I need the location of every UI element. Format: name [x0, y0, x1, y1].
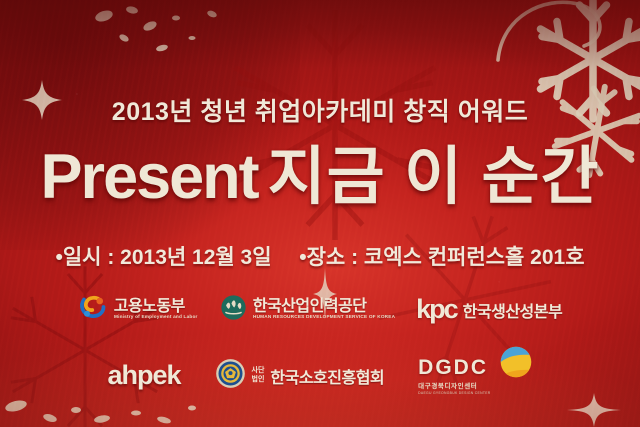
association-prefix-line1: 사단 — [252, 367, 265, 374]
circular-seal-emblem-icon — [215, 358, 246, 394]
sponsor-logo-korea-productivity-center: kpc 한국생산성본부 — [416, 296, 562, 323]
venue-value: 코엑스 컨퍼런스홀 201호 — [364, 246, 585, 269]
sponsor-name-en: DAEGU GYEONGBUK DESIGN CENTER — [418, 391, 490, 395]
sponsor-name-ko: 대구경북디자인센터 — [418, 380, 490, 390]
sponsor-logo-row-primary: 고용노동부 Ministry of Employment and Labor 한… — [0, 292, 640, 327]
sponsor-logo-korea-soho-promotion-association: 사단 법인 한국소호진흥협회 — [215, 358, 385, 394]
sponsor-logo-ahpek: ahpek — [107, 362, 180, 389]
sponsor-logo-daegu-gyeongbuk-design-center: DGDC 대구경북디자인센터 DAEGU GYEONGBUK DESIGN CE… — [418, 345, 532, 406]
date-bullet: • — [55, 246, 62, 269]
sponsor-name-en: Ministry of Employment and Labor — [114, 315, 198, 320]
banner-title: Present지금 이 순간 — [0, 146, 640, 209]
banner-title-korean: 지금 이 순간 — [268, 142, 600, 212]
sponsor-name-en: HUMAN RESOURCES DEVELOPMENT SERVICE OF K… — [253, 315, 395, 320]
date-separator: : — [107, 246, 114, 269]
venue-bullet: • — [299, 246, 306, 269]
dgdc-wordmark: DGDC — [418, 357, 490, 378]
sponsor-name-ko: 한국산업인력공단 — [253, 299, 392, 316]
green-circle-emblem-icon — [220, 294, 247, 326]
event-banner-photo: 2013년 청년 취업아카데미 창직 어워드 Present지금 이 순간 •일… — [0, 0, 640, 427]
sponsor-label-group: 고용노동부 Ministry of Employment and Labor — [114, 299, 196, 321]
swirl-emblem-icon — [78, 292, 108, 327]
sponsor-label-group: 한국산업인력공단 HUMAN RESOURCES DEVELOPMENT SER… — [253, 299, 392, 321]
date-value: 2013년 12월 3일 — [120, 246, 271, 269]
banner-info-line: •일시 : 2013년 12월 3일 •장소 : 코엑스 컨퍼런스홀 201호 — [0, 241, 640, 271]
kpc-wordmark: kpc — [416, 296, 457, 323]
banner-title-english: Present — [41, 142, 258, 212]
sponsor-name-ko: 한국소호진흥협회 — [270, 364, 384, 388]
venue-label: 장소 — [307, 246, 346, 269]
sponsor-logo-ministry-of-employment-and-labor: 고용노동부 Ministry of Employment and Labor — [78, 292, 196, 327]
association-prefix: 사단 법인 — [252, 367, 265, 383]
venue-separator: : — [351, 246, 358, 269]
dgdc-label-group: DGDC 대구경북디자인센터 DAEGU GYEONGBUK DESIGN CE… — [418, 357, 490, 395]
association-prefix-line2: 법인 — [252, 376, 265, 383]
sponsor-logo-row-secondary: ahpek 사단 법인 한국소호진흥협회 DGDC — [0, 345, 640, 406]
blue-yellow-circle-icon — [499, 345, 533, 384]
ahpek-wordmark: ahpek — [107, 362, 180, 389]
date-label: 일시 — [63, 246, 102, 269]
sponsor-name-ko: 한국생산성본부 — [463, 298, 563, 322]
banner-kicker: 2013년 청년 취업아카데미 창직 어워드 — [0, 92, 640, 128]
sponsor-name-ko: 고용노동부 — [114, 299, 196, 316]
sponsor-logo-hrd-korea: 한국산업인력공단 HUMAN RESOURCES DEVELOPMENT SER… — [220, 294, 392, 326]
